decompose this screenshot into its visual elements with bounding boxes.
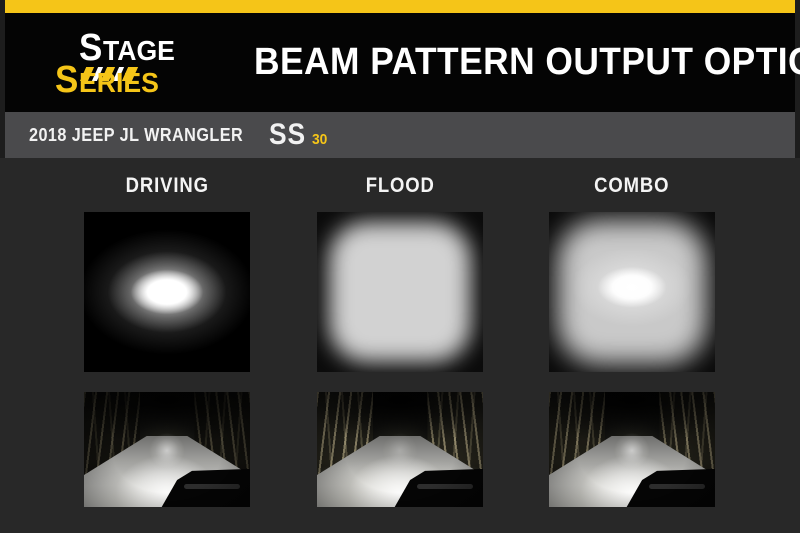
- column-label-driving: DRIVING: [84, 174, 250, 198]
- beam-pattern-infographic: S TAGE S ERIES BEAM PATTERN OUTPUT OPTIO…: [0, 0, 800, 533]
- night-road-scene: [549, 392, 715, 507]
- night-road-scene: [317, 392, 483, 507]
- header-bar: S TAGE S ERIES BEAM PATTERN OUTPUT OPTIO…: [0, 13, 800, 112]
- product-model-badge: SS 30: [269, 121, 329, 150]
- logo-series-rest: ERIES: [79, 69, 159, 97]
- column-header-row: DRIVING FLOOD COMBO: [0, 174, 800, 200]
- road-photo-flood: [317, 392, 483, 507]
- page-title: BEAM PATTERN OUTPUT OPTIONS: [254, 41, 800, 84]
- model-prefix: SS: [269, 121, 306, 150]
- photo-vignette: [317, 392, 483, 507]
- model-number: 30: [312, 132, 327, 147]
- logo-series-capital: S: [55, 61, 77, 99]
- vehicle-subtitle-bar: 2018 JEEP JL WRANGLER SS 30: [0, 112, 800, 158]
- top-accent-bar: [0, 0, 800, 13]
- column-label-flood: FLOOD: [317, 174, 483, 198]
- beam-pattern-flood: [317, 212, 483, 372]
- stage-series-logo: S TAGE S ERIES: [47, 23, 232, 103]
- beam-hotspot-combo: [549, 212, 715, 372]
- road-photo-driving: [84, 392, 250, 507]
- comparison-grid: DRIVING FLOOD COMBO: [0, 158, 800, 533]
- accent-bar-left-cap: [0, 0, 5, 13]
- road-photo-combo: [549, 392, 715, 507]
- beam-pattern-driving: [84, 212, 250, 372]
- vehicle-name: 2018 JEEP JL WRANGLER: [29, 125, 243, 146]
- column-label-combo: COMBO: [549, 174, 715, 198]
- photo-vignette: [84, 392, 250, 507]
- night-road-scene: [84, 392, 250, 507]
- beam-glow-driving: [84, 212, 250, 372]
- beam-glow-flood: [317, 212, 483, 372]
- logo-line-series: S ERIES: [55, 61, 163, 99]
- photo-vignette: [549, 392, 715, 507]
- beam-pattern-combo: [549, 212, 715, 372]
- accent-bar-right-cap: [795, 0, 800, 13]
